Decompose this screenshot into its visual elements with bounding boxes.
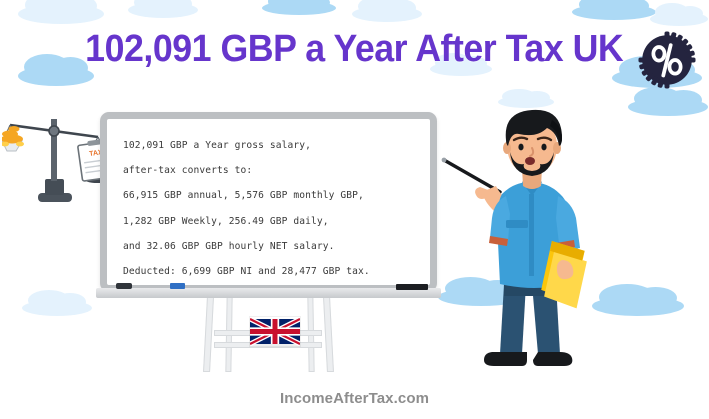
whiteboard-line: after-tax converts to: [123, 158, 414, 183]
whiteboard-tray [96, 288, 441, 298]
whiteboard-line: 102,091 GBP a Year gross salary, [123, 133, 414, 158]
whiteboard: 102,091 GBP a Year gross salary, after-t… [100, 112, 437, 292]
uk-flag-icon [250, 317, 300, 346]
cloud-icon [22, 300, 92, 316]
whiteboard-line: and 32.06 GBP GBP hourly NET salary. [123, 234, 414, 259]
cloud-icon [352, 6, 422, 22]
whiteboard-line: 1,282 GBP Weekly, 256.49 GBP daily, [123, 209, 414, 234]
black-marker-icon [396, 284, 428, 290]
page-title-text: 102,091 GBP a Year After Tax UK [85, 28, 623, 71]
cloud-icon [628, 98, 708, 116]
whiteboard-text-area: 102,091 GBP a Year gross salary, after-t… [107, 119, 430, 285]
whiteboard-line: 66,915 GBP annual, 5,576 GBP monthly GBP… [123, 183, 414, 208]
blue-marker-icon [170, 283, 185, 289]
infographic-canvas: 102,091 GBP a Year After Tax UK [0, 0, 709, 419]
eraser-icon [116, 283, 132, 289]
teacher-character-icon [440, 88, 625, 373]
whiteboard-line: Deducted: 6,699 GBP NI and 28,477 GBP ta… [123, 259, 414, 284]
site-footer: IncomeAfterTax.com [0, 390, 709, 407]
board-stand-leg [323, 297, 334, 372]
page-title: 102,091 GBP a Year After Tax UK [0, 22, 709, 76]
balance-scale-icon: TAX [2, 95, 106, 205]
percent-badge-icon [636, 29, 698, 91]
cloud-icon [262, 1, 336, 15]
cloud-icon [128, 2, 198, 18]
board-stand-leg [203, 297, 214, 372]
cloud-icon [572, 4, 656, 20]
cloud-icon [18, 4, 104, 24]
pointer-stick-icon [442, 158, 500, 192]
